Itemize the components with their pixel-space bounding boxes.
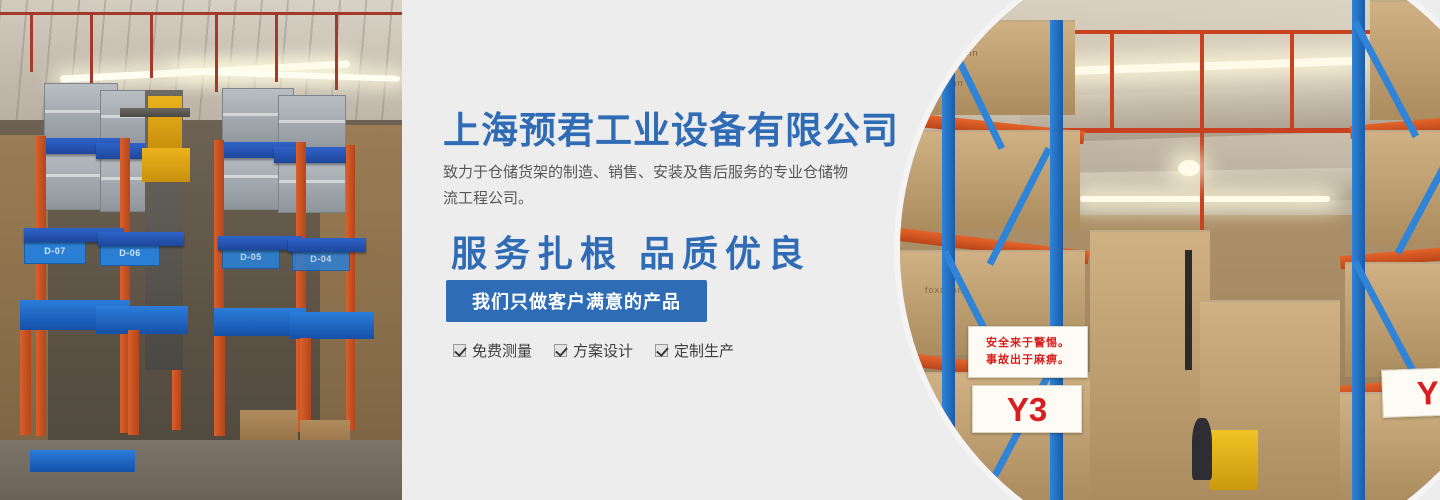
rack-label-text: D-04 xyxy=(310,254,332,264)
safety-sign-line2: 事故出于麻痹。 xyxy=(986,352,1070,369)
right-warehouse-photo-circle: foxconn foxconn foxconn xyxy=(900,0,1440,500)
sprinkler-drop xyxy=(275,12,278,82)
stacker-crane-boom xyxy=(148,96,182,148)
rack-upright xyxy=(36,136,46,436)
stacker-crane-cab xyxy=(142,148,190,182)
safety-sign-line1: 安全来于警惕。 xyxy=(986,335,1070,352)
feature-label: 免费测量 xyxy=(472,340,532,361)
worker xyxy=(1192,418,1212,480)
sprinkler-drop xyxy=(30,12,33,72)
sprinkler-drop xyxy=(215,12,218,92)
checkbox-checked-icon xyxy=(655,344,668,357)
safety-sign: 安全来于警惕。 事故出于麻痹。 xyxy=(968,326,1088,378)
checkbox-checked-icon xyxy=(453,344,466,357)
forklift xyxy=(1210,430,1258,490)
feature-label: 定制生产 xyxy=(674,340,734,361)
rack-upright xyxy=(20,330,31,435)
rack-label-text: D-07 xyxy=(44,246,66,256)
wrapped-pallet xyxy=(1355,130,1440,245)
rack-upright xyxy=(214,336,225,436)
checkbox-checked-icon xyxy=(554,344,567,357)
rack-label-text: D-06 xyxy=(119,248,141,258)
promise-badge: 我们只做客户满意的产品 xyxy=(446,280,707,322)
feature-item: 定制生产 xyxy=(655,340,734,361)
rack-beam xyxy=(98,232,184,246)
rack-beam xyxy=(274,147,354,163)
blue-pallet xyxy=(96,306,188,334)
company-slogan: 服务扎根 品质优良 xyxy=(451,225,811,277)
aisle-sign: Y3 xyxy=(972,385,1082,433)
plastic-crate xyxy=(278,155,346,213)
rack-upright xyxy=(128,330,139,435)
rack-upright xyxy=(346,145,355,430)
sprinkler-drop xyxy=(90,12,93,84)
wrapped-pallet xyxy=(1370,0,1440,120)
company-subtitle: 致力于仓储货架的制造、销售、安装及售后服务的专业仓储物流工程公司。 xyxy=(443,160,855,211)
feature-list: 免费测量 方案设计 定制生产 xyxy=(453,340,734,361)
column xyxy=(1185,250,1192,370)
sprinkler-pipe xyxy=(0,12,402,15)
right-warehouse-photo: foxconn foxconn foxconn xyxy=(900,0,1440,500)
hero-banner: D-07 D-06 D-05 D-04 xyxy=(0,0,1440,500)
left-warehouse-photo: D-07 D-06 D-05 D-04 xyxy=(0,0,402,500)
aisle-sign-text: Y3 xyxy=(1007,393,1047,426)
aisle-sign-secondary-text: Y3 xyxy=(1416,375,1440,409)
feature-label: 方案设计 xyxy=(573,340,633,361)
feature-item: 免费测量 xyxy=(453,340,532,361)
feature-item: 方案设计 xyxy=(554,340,633,361)
rack-beam xyxy=(288,238,366,252)
aisle-sign-secondary: Y3 xyxy=(1381,366,1440,418)
pendant-lamp xyxy=(1178,160,1200,176)
blue-pallet xyxy=(290,312,374,339)
blue-pallet xyxy=(30,450,135,472)
wrapped-pallet xyxy=(900,20,1075,115)
rack-label-text: D-05 xyxy=(240,252,262,262)
sprinkler-drop xyxy=(1110,30,1114,130)
ceiling-light xyxy=(1080,196,1330,202)
sprinkler-drop xyxy=(1200,30,1204,138)
sprinkler-drop xyxy=(335,12,338,90)
company-title: 上海预君工业设备有限公司 xyxy=(443,100,899,154)
sprinkler-drop xyxy=(1290,30,1294,130)
sprinkler-drop xyxy=(150,12,153,78)
stacker-crane-arm xyxy=(120,108,190,117)
rack-upright xyxy=(1352,0,1365,500)
banner-content: 上海预君工业设备有限公司 致力于仓储货架的制造、销售、安装及售后服务的专业仓储物… xyxy=(443,0,913,500)
